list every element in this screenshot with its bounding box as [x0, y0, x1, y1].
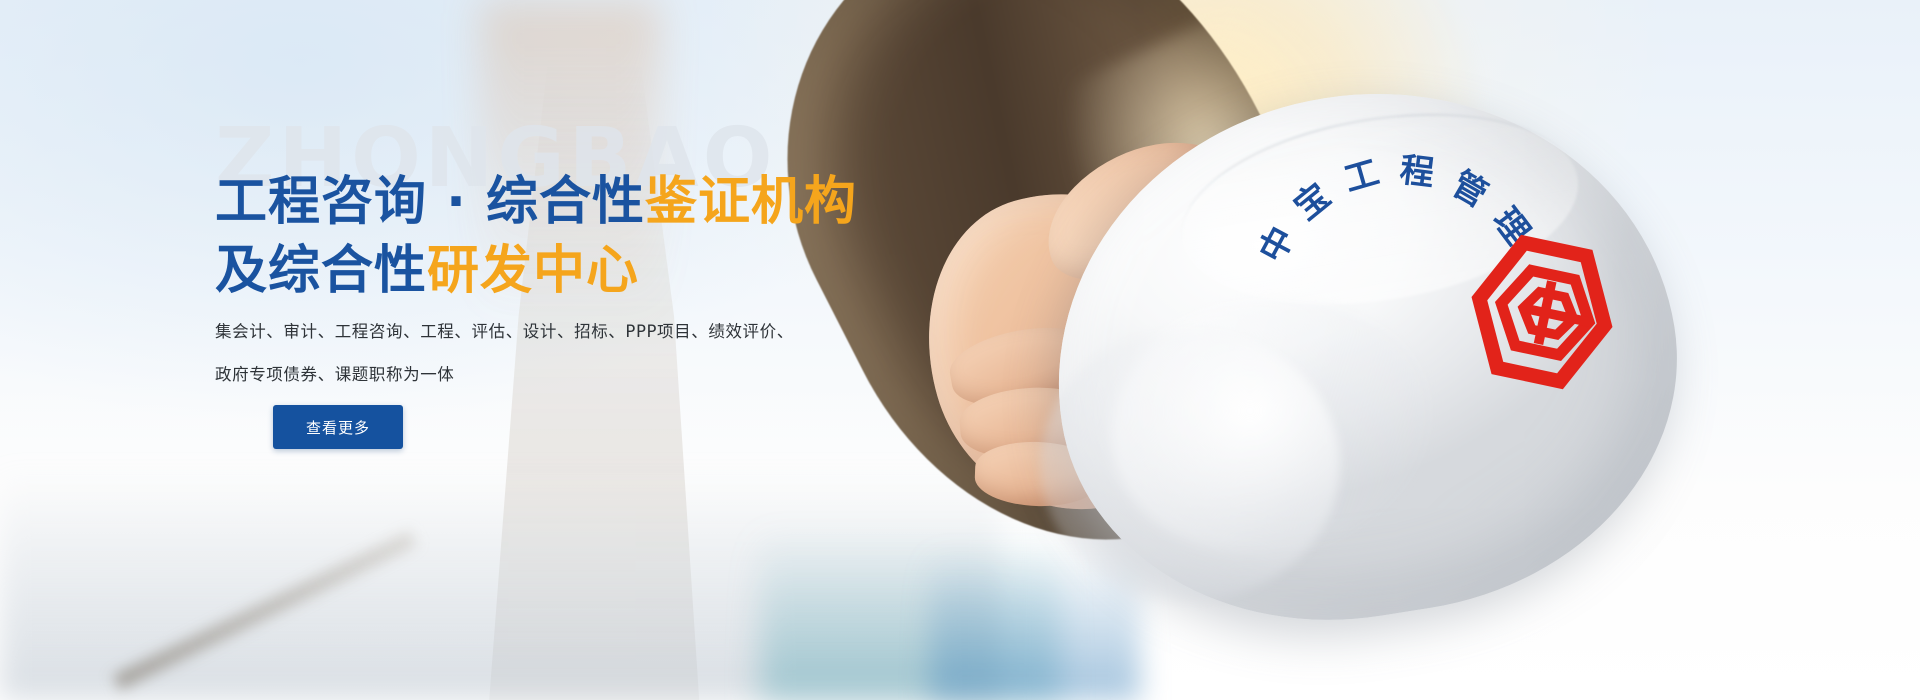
description-line-1: 集会计、审计、工程咨询、工程、评估、设计、招标、PPP项目、绩效评价、 — [215, 311, 815, 354]
headline-line-2-accent: 研发中心 — [427, 241, 639, 301]
description-line-2: 政府专项债券、课题职称为一体 — [215, 354, 815, 397]
helmet-text-char: 中 — [1245, 217, 1304, 270]
helmet-text-char: 工 — [1338, 145, 1384, 201]
helmet-text-char: 宝 — [1282, 170, 1339, 229]
headline-line-2-primary: 及综合性 — [215, 241, 427, 301]
hero-banner: 中宝工程管理 ZHONGBAO 工程咨询 · 综合性鉴证机构 及综合性研发中心 … — [0, 0, 1920, 700]
view-more-button[interactable]: 查看更多 — [273, 405, 403, 449]
headline-line-1-primary: 工程咨询 · 综合性 — [215, 172, 645, 232]
headline-line-1-accent: 鉴证机构 — [645, 172, 857, 232]
zhongbao-hexagon-logo-icon — [1462, 232, 1622, 392]
headline-line-2: 及综合性研发中心 — [215, 237, 975, 306]
page-title: 工程咨询 · 综合性鉴证机构 及综合性研发中心 — [215, 168, 975, 305]
helmet-text-char: 管 — [1444, 157, 1498, 216]
hero-description: 集会计、审计、工程咨询、工程、评估、设计、招标、PPP项目、绩效评价、 政府专项… — [215, 311, 815, 397]
helmet-text-char: 程 — [1398, 142, 1438, 195]
headline-line-1: 工程咨询 · 综合性鉴证机构 — [215, 168, 975, 237]
